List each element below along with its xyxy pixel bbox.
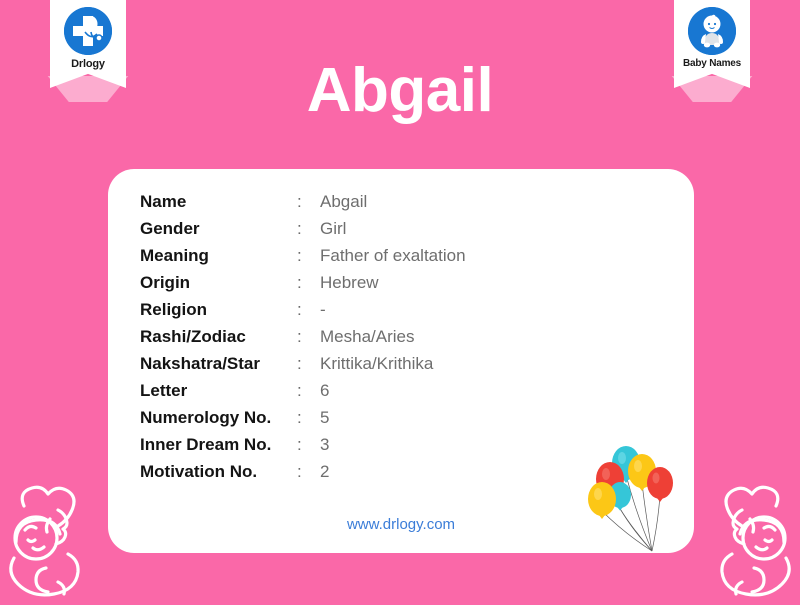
row-separator: : xyxy=(297,246,320,266)
row-separator: : xyxy=(297,327,320,347)
table-row: Motivation No. : 2 xyxy=(140,462,466,489)
row-label: Gender xyxy=(140,219,297,239)
row-value: Hebrew xyxy=(320,273,379,293)
doctor-medical-cross-icon xyxy=(64,7,112,55)
mother-and-baby-icon xyxy=(696,476,800,600)
row-separator: : xyxy=(297,381,320,401)
row-value: 2 xyxy=(320,462,329,482)
row-value: 5 xyxy=(320,408,329,428)
badge-label-baby-names: Baby Names xyxy=(683,58,741,69)
row-label: Meaning xyxy=(140,246,297,266)
row-value: Krittika/Krithika xyxy=(320,354,433,374)
badge-drlogy[interactable]: Drlogy xyxy=(50,0,126,88)
mother-and-baby-icon xyxy=(0,476,104,600)
table-row: Letter : 6 xyxy=(140,381,466,408)
badge-baby-names[interactable]: Baby Names xyxy=(674,0,750,88)
row-label: Origin xyxy=(140,273,297,293)
row-label: Name xyxy=(140,192,297,212)
row-value: Girl xyxy=(320,219,346,239)
website-link[interactable]: www.drlogy.com xyxy=(108,516,694,533)
row-label: Inner Dream No. xyxy=(140,435,297,455)
baby-sitting-icon xyxy=(688,7,736,55)
badge-label-drlogy: Drlogy xyxy=(71,58,105,70)
row-separator: : xyxy=(297,192,320,212)
table-row: Numerology No. : 5 xyxy=(140,408,466,435)
row-separator: : xyxy=(297,273,320,293)
balloons-cluster-icon xyxy=(580,439,690,553)
row-value: 6 xyxy=(320,381,329,401)
badge-ribbon-left: Drlogy xyxy=(50,0,126,88)
table-row: Inner Dream No. : 3 xyxy=(140,435,466,462)
name-details-table: Name : Abgail Gender : Girl Meaning : Fa… xyxy=(140,192,466,489)
badge-ribbon-right: Baby Names xyxy=(674,0,750,88)
name-info-card: Name : Abgail Gender : Girl Meaning : Fa… xyxy=(108,169,694,553)
row-label: Religion xyxy=(140,300,297,320)
row-label: Numerology No. xyxy=(140,408,297,428)
row-separator: : xyxy=(297,435,320,455)
row-label: Nakshatra/Star xyxy=(140,354,297,374)
row-separator: : xyxy=(297,408,320,428)
row-separator: : xyxy=(297,462,320,482)
row-label: Motivation No. xyxy=(140,462,297,482)
row-separator: : xyxy=(297,219,320,239)
table-row: Gender : Girl xyxy=(140,219,466,246)
table-row: Religion : - xyxy=(140,300,466,327)
row-separator: : xyxy=(297,354,320,374)
row-value: Abgail xyxy=(320,192,367,212)
row-label: Rashi/Zodiac xyxy=(140,327,297,347)
row-value: Father of exaltation xyxy=(320,246,466,266)
table-row: Origin : Hebrew xyxy=(140,273,466,300)
table-row: Name : Abgail xyxy=(140,192,466,219)
table-row: Meaning : Father of exaltation xyxy=(140,246,466,273)
row-label: Letter xyxy=(140,381,297,401)
table-row: Rashi/Zodiac : Mesha/Aries xyxy=(140,327,466,354)
row-value: - xyxy=(320,300,326,320)
row-value: 3 xyxy=(320,435,329,455)
table-row: Nakshatra/Star : Krittika/Krithika xyxy=(140,354,466,381)
row-separator: : xyxy=(297,300,320,320)
row-value: Mesha/Aries xyxy=(320,327,414,347)
